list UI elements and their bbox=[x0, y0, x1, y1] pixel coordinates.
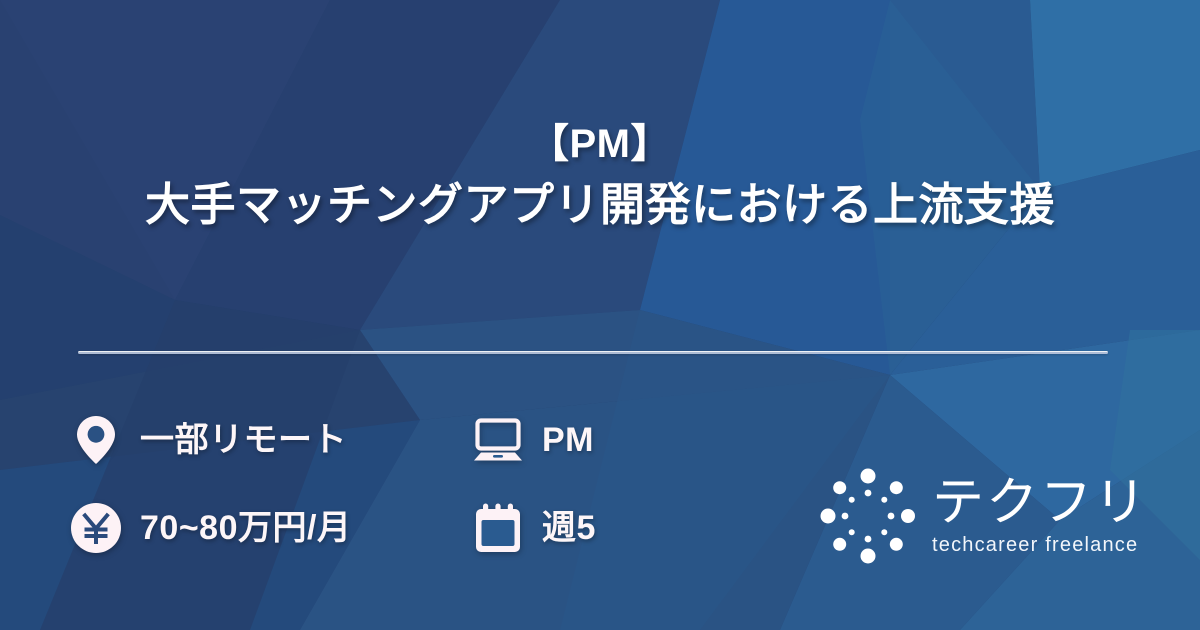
job-meta-grid: 一部リモート PM bbox=[70, 396, 596, 572]
calendar-icon bbox=[472, 502, 524, 554]
meta-item-role: PM bbox=[472, 414, 596, 466]
meta-label-days: 週5 bbox=[542, 511, 596, 545]
job-offer-card: 【PM】 大手マッチングアプリ開発における上流支援 一部リモート bbox=[0, 0, 1200, 630]
meta-label-work-style: 一部リモート bbox=[140, 423, 347, 457]
meta-item-days: 週5 bbox=[472, 502, 596, 554]
job-category-tag: 【PM】 bbox=[0, 118, 1200, 170]
meta-label-role: PM bbox=[542, 423, 594, 457]
yen-circle-icon bbox=[70, 502, 122, 554]
job-title: 大手マッチングアプリ開発における上流支援 bbox=[0, 174, 1200, 236]
dot-cluster-icon bbox=[818, 466, 918, 566]
laptop-icon bbox=[472, 414, 524, 466]
brand-tagline-en: techcareer freelance bbox=[932, 533, 1138, 557]
brand-name-jp: テクフリ bbox=[932, 475, 1148, 531]
brand-logo: テクフリ techcareer freelance bbox=[818, 466, 1148, 566]
job-title-block: 【PM】 大手マッチングアプリ開発における上流支援 bbox=[0, 118, 1200, 236]
location-pin-icon bbox=[70, 414, 122, 466]
horizontal-divider bbox=[78, 351, 1108, 354]
meta-item-work-style: 一部リモート bbox=[70, 414, 472, 466]
meta-label-pay: 70~80万円/月 bbox=[140, 511, 351, 545]
meta-item-pay: 70~80万円/月 bbox=[70, 502, 472, 554]
brand-wordmark: テクフリ techcareer freelance bbox=[932, 475, 1148, 557]
